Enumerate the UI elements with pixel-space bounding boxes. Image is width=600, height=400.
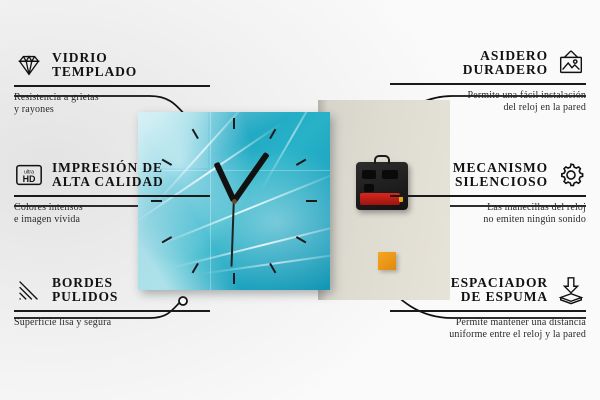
clock-second-hand [231, 201, 235, 267]
feature-rule [390, 310, 586, 312]
diamond-icon [14, 50, 44, 80]
feature-title-line1: ASIDERO [480, 48, 548, 63]
feature-title-line2: DURADERO [463, 62, 548, 77]
feature-bordes-pulidos: BORDES PULIDOS Superficie lisa y segura [14, 275, 210, 329]
feature-impresion-alta-calidad: ultra HD IMPRESIÓN DE ALTA CALIDAD Color… [14, 160, 210, 226]
feature-title-line2: PULIDOS [52, 289, 118, 304]
feature-title-line2: TEMPLADO [52, 64, 137, 79]
picture-frame-hanger-icon [556, 48, 586, 78]
feature-espaciador-de-espuma: ESPACIADOR DE ESPUMA Permite mantener un… [390, 275, 586, 341]
feature-sub-line1: Superficie lisa y segura [14, 317, 111, 328]
feature-sub-line1: Colores intensos [14, 202, 83, 213]
feature-rule [14, 310, 210, 312]
feature-title-line1: MECANISMO [453, 160, 548, 175]
feature-vidrio-templado: VIDRIO TEMPLADO Resistencia a grietas y … [14, 50, 210, 116]
feature-sub-line1: Resistencia a grietas [14, 92, 99, 103]
gear-icon [556, 160, 586, 190]
feature-title-line2: ALTA CALIDAD [52, 174, 164, 189]
feature-rule [390, 83, 586, 85]
feature-rule [390, 195, 586, 197]
feature-mecanismo-silencioso: MECANISMO SILENCIOSO Las manecillas del … [390, 160, 586, 226]
feature-sub-line2: no emiten ningún sonido [483, 214, 586, 225]
clock-minute-hand [232, 152, 270, 203]
feature-title-line1: VIDRIO [52, 50, 108, 65]
feature-title-line2: DE ESPUMA [461, 289, 548, 304]
feature-sub-line2: uniforme entre el reloj y la pared [449, 329, 586, 340]
ultra-hd-icon: ultra HD [14, 160, 44, 190]
foam-spacer [378, 252, 396, 270]
feature-sub-line1: Las manecillas del reloj [487, 202, 586, 213]
feature-rule [14, 85, 210, 87]
clock-center-pin [232, 199, 237, 204]
feature-rule [14, 195, 210, 197]
feature-title-line1: ESPACIADOR [451, 275, 548, 290]
feature-sub-line1: Permite una fácil instalación [468, 90, 586, 101]
feature-sub-line2: y rayones [14, 104, 54, 115]
feature-asidero-duradero: ASIDERO DURADERO Permite una fácil insta… [390, 48, 586, 114]
infographic-stage: VIDRIO TEMPLADO Resistencia a grietas y … [0, 0, 600, 400]
feature-sub-line2: del reloj en la pared [503, 102, 586, 113]
feature-sub-line2: e imagen vívida [14, 214, 80, 225]
feature-title-line1: BORDES [52, 275, 113, 290]
polished-edges-icon [14, 275, 44, 305]
svg-text:HD: HD [23, 174, 36, 184]
feature-sub-line1: Permite mantener una distancia [456, 317, 586, 328]
feature-title-line2: SILENCIOSO [455, 174, 548, 189]
feature-title-line1: IMPRESIÓN DE [52, 160, 163, 175]
down-arrow-layers-icon [556, 275, 586, 305]
